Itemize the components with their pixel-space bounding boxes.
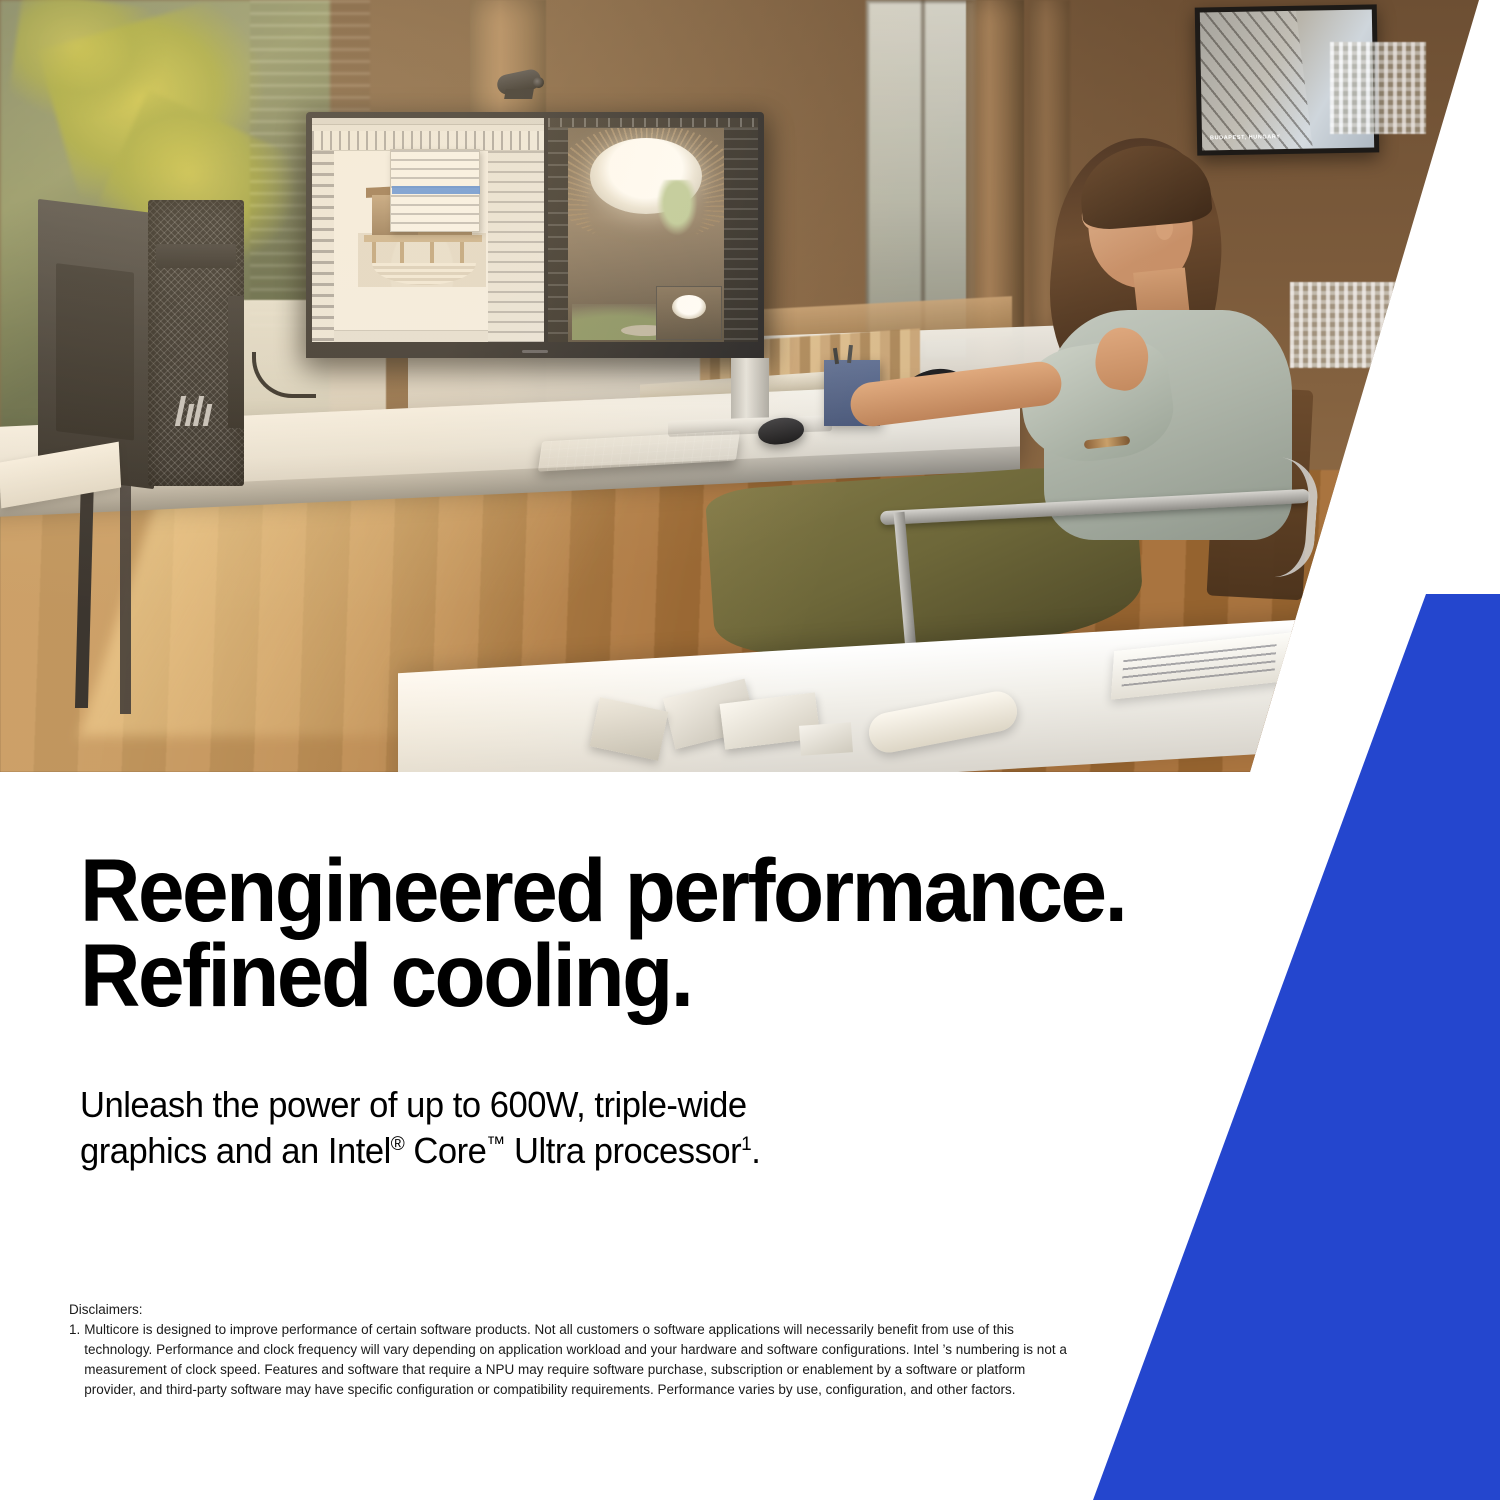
desk-leg	[120, 470, 131, 714]
disclaimers-title: Disclaimers:	[69, 1300, 1079, 1320]
monitor-screens	[312, 118, 758, 342]
subhead-line2-suffix: Ultra processor	[505, 1130, 741, 1171]
studio-scene-image: BUDAPEST, HUNGARY	[0, 0, 1500, 772]
cad-properties-panel	[488, 151, 544, 342]
footnote-reference: 1	[741, 1133, 751, 1155]
architectural-model	[1290, 282, 1420, 368]
render-tree	[655, 180, 699, 238]
cad-application-screen	[312, 118, 544, 342]
subhead-line2-mid: Core	[404, 1130, 486, 1171]
trademark-mark-icon: ™	[486, 1133, 505, 1155]
cad-menu-highlight	[392, 186, 480, 194]
person-at-workstation	[960, 120, 1300, 590]
render-right-panel	[724, 128, 758, 342]
disclaimers-section: Disclaimers: 1. Multicore is designed to…	[69, 1300, 1079, 1401]
page-title: Reengineered performance. Refined coolin…	[80, 848, 1133, 1019]
disclaimer-number: 1.	[69, 1320, 80, 1401]
plant-leaf	[6, 0, 171, 130]
disclaimer-item: 1. Multicore is designed to improve perf…	[69, 1320, 1079, 1401]
render-application-screen	[548, 118, 758, 342]
monitor-stand-neck	[731, 358, 769, 420]
hp-workstation-banner: BUDAPEST, HUNGARY	[0, 0, 1500, 1500]
disclaimer-text: Multicore is designed to improve perform…	[84, 1320, 1079, 1401]
hp-z-workstation-tower	[38, 200, 246, 492]
content-area: Reengineered performance. Refined coolin…	[0, 772, 1500, 1500]
architectural-model	[1330, 42, 1426, 134]
subhead-line2-prefix: graphics and an Intel	[80, 1130, 391, 1171]
render-thumbnail-preview	[656, 286, 722, 340]
webcam	[497, 72, 545, 102]
cad-viewport	[312, 151, 544, 342]
monitor	[306, 112, 764, 358]
hp-logo-icon	[176, 396, 216, 426]
subhead-line2-end: .	[751, 1130, 760, 1171]
render-left-panel	[548, 128, 568, 342]
material-samples	[556, 688, 856, 758]
subheadline: Unleash the power of up to 600W, triple-…	[80, 1082, 925, 1173]
render-top-bar	[548, 118, 758, 128]
subhead-line1: Unleash the power of up to 600W, triple-…	[80, 1084, 747, 1125]
render-viewport	[568, 128, 724, 342]
cad-dropdown-menu	[390, 149, 480, 232]
hero-photo: BUDAPEST, HUNGARY	[0, 0, 1500, 772]
tower-front-ports	[228, 296, 244, 428]
cad-tool-palette	[312, 151, 334, 342]
tower-optical-bay	[156, 244, 236, 268]
cad-title-bar	[312, 118, 544, 125]
monitor-bezel-chin	[306, 346, 764, 358]
registered-mark-icon: ®	[391, 1133, 405, 1155]
cad-toolbar	[312, 131, 544, 151]
cad-status-bar	[334, 330, 488, 342]
